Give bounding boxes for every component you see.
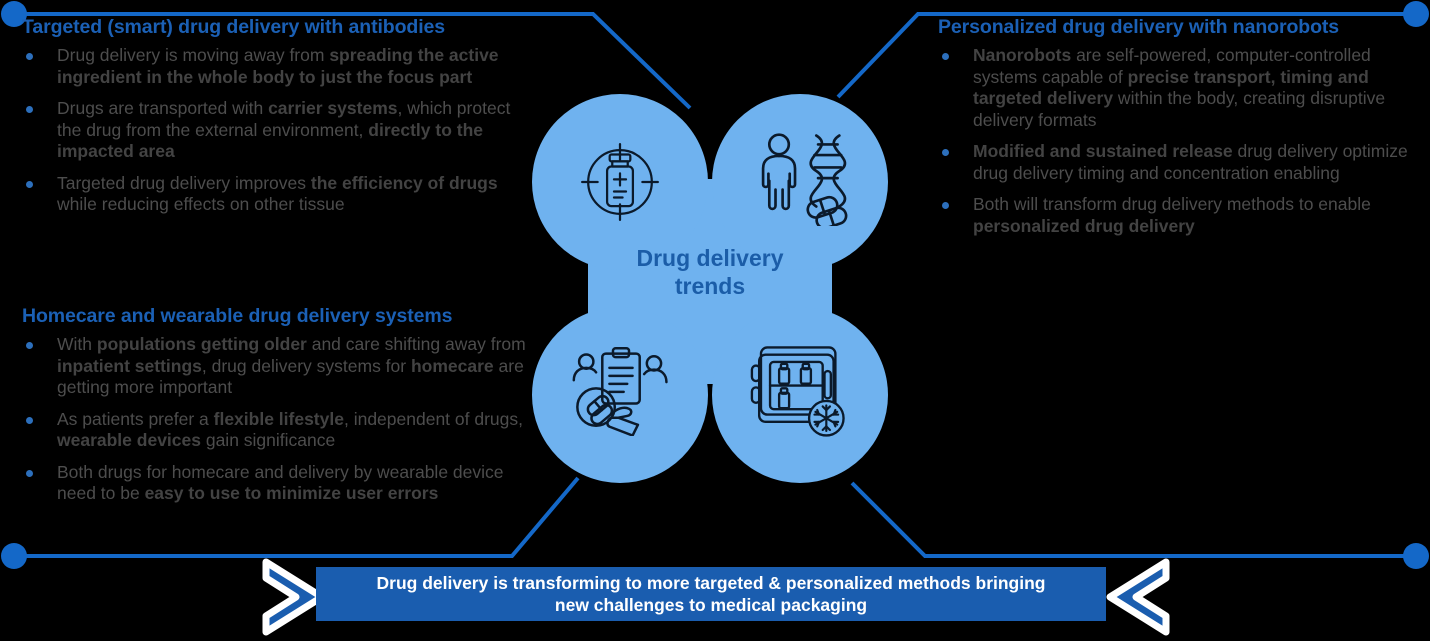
bullet-text: Targeted drug delivery improves [57, 173, 311, 193]
central-hub: Drug delivery trends [520, 84, 900, 494]
panel-homecare-wearable: Homecare and wearable drug delivery syst… [12, 305, 530, 515]
human-dna-pills-icon [754, 132, 852, 226]
bullet-dot-icon [26, 417, 33, 424]
panel-title: Homecare and wearable drug delivery syst… [22, 305, 530, 328]
bullet-emphasis: wearable devices [57, 430, 201, 450]
bullet-dot-icon [26, 181, 33, 188]
banner-line-1: Drug delivery is transforming to more ta… [363, 572, 1060, 594]
hub-label: Drug delivery trends [588, 244, 832, 300]
infographic-root: Targeted (smart) drug delivery with anti… [0, 0, 1430, 641]
bullet-dot-icon [26, 53, 33, 60]
bullet-item: Modified and sustained release drug deli… [928, 141, 1423, 184]
bullet-dot-icon [942, 202, 949, 209]
bullet-emphasis: Nanorobots [973, 45, 1071, 65]
bullet-text: while reducing effects on other tissue [57, 194, 345, 214]
bullet-emphasis: Modified and sustained release [973, 141, 1233, 161]
bullet-list: Nanorobots are self-powered, computer-co… [928, 45, 1423, 237]
bullet-text: , independent of drugs, [344, 409, 523, 429]
bullet-dot-icon [26, 106, 33, 113]
hub-label-line2: trends [588, 272, 832, 300]
chevron-left-icon [1102, 558, 1174, 636]
panel-targeted-drug-delivery: Targeted (smart) drug delivery with anti… [12, 16, 524, 226]
bullet-text: As patients prefer a [57, 409, 214, 429]
bullet-item: As patients prefer a flexible lifestyle,… [12, 409, 530, 452]
bullet-item: Nanorobots are self-powered, computer-co… [928, 45, 1423, 131]
connector-bottom-right [852, 483, 1416, 556]
bullet-dot-icon [26, 342, 33, 349]
bullet-emphasis: easy to use to minimize user errors [145, 483, 439, 503]
cold-storage-vials-icon [750, 342, 850, 440]
bullet-item: Drug delivery is moving away from spread… [12, 45, 524, 88]
banner-line-2: new challenges to medical packaging [363, 594, 1060, 616]
bullet-emphasis: inpatient settings [57, 356, 202, 376]
bullet-dot-icon [942, 149, 949, 156]
panel-title: Targeted (smart) drug delivery with anti… [22, 16, 524, 39]
clipboard-hand-pills-icon [572, 346, 670, 436]
bullet-item: Both drugs for homecare and delivery by … [12, 462, 530, 505]
bullet-item: Drugs are transported with carrier syste… [12, 98, 524, 163]
bullet-emphasis: flexible lifestyle [214, 409, 344, 429]
bullet-emphasis: carrier systems [268, 98, 397, 118]
bullet-emphasis: the efficiency of drugs [311, 173, 498, 193]
bullet-text: With [57, 334, 97, 354]
bullet-emphasis: populations getting older [97, 334, 307, 354]
bullet-text: , drug delivery systems for [202, 356, 411, 376]
panel-personalized-nanorobots: Personalized drug delivery with nanorobo… [928, 16, 1423, 247]
bullet-list: Drug delivery is moving away from spread… [12, 45, 524, 216]
endpoint-dot-bottom-left [1, 543, 27, 569]
bullet-dot-icon [942, 53, 949, 60]
endpoint-dot-bottom-right [1403, 543, 1429, 569]
bullet-text: Both will transform drug delivery method… [973, 194, 1371, 214]
target-medicine-bottle-icon [577, 139, 663, 225]
bullet-list: With populations getting older and care … [12, 334, 530, 505]
bullet-text: Drugs are transported with [57, 98, 268, 118]
bullet-dot-icon [26, 470, 33, 477]
bullet-item: With populations getting older and care … [12, 334, 530, 399]
panel-title: Personalized drug delivery with nanorobo… [938, 16, 1423, 39]
bullet-item: Both will transform drug delivery method… [928, 194, 1423, 237]
summary-banner: Drug delivery is transforming to more ta… [316, 567, 1106, 621]
bullet-text: gain significance [201, 430, 335, 450]
bullet-text: and care shifting away from [307, 334, 526, 354]
hub-label-line1: Drug delivery [588, 244, 832, 272]
bullet-item: Targeted drug delivery improves the effi… [12, 173, 524, 216]
bullet-emphasis: whole body to just the focus part [198, 67, 472, 87]
bullet-emphasis: homecare [411, 356, 494, 376]
bullet-emphasis: personalized drug delivery [973, 216, 1195, 236]
bullet-text: Drug delivery is moving away from [57, 45, 329, 65]
